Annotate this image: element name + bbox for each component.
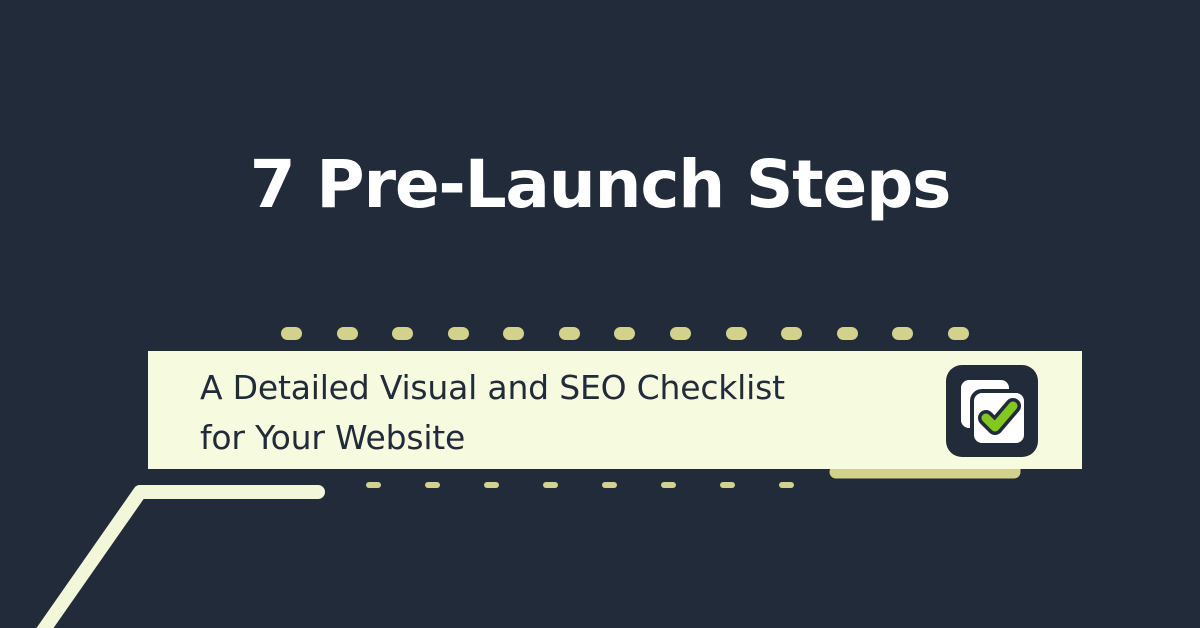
dash-mark <box>948 327 969 340</box>
dash-mark <box>503 327 524 340</box>
dash-mark <box>559 327 580 340</box>
dash-mark <box>425 482 440 488</box>
page-title: 7 Pre-Launch Steps <box>0 143 1200 227</box>
subtitle-text: A Detailed Visual and SEO Checklist for … <box>200 363 920 463</box>
dash-mark <box>448 327 469 340</box>
dash-mark <box>726 327 747 340</box>
dash-mark <box>602 482 617 488</box>
top-dashed-divider <box>281 326 969 340</box>
dash-mark <box>670 327 691 340</box>
dash-mark <box>837 327 858 340</box>
dash-mark <box>892 327 913 340</box>
dash-mark <box>484 482 499 488</box>
subtitle-panel: A Detailed Visual and SEO Checklist for … <box>148 351 1082 469</box>
dash-mark <box>661 482 676 488</box>
dash-mark <box>337 327 358 340</box>
dash-mark <box>779 482 794 488</box>
dash-mark <box>366 482 381 488</box>
dash-mark <box>614 327 635 340</box>
poster-canvas: A Detailed Visual and SEO Checklist for … <box>0 0 1200 628</box>
dash-mark <box>281 327 302 340</box>
dash-mark <box>543 482 558 488</box>
checklist-card-icon <box>946 365 1038 457</box>
dash-mark <box>392 327 413 340</box>
bottom-dashed-divider <box>366 481 794 488</box>
cream-connector-line <box>0 470 340 628</box>
dash-mark <box>720 482 735 488</box>
dash-mark <box>781 327 802 340</box>
